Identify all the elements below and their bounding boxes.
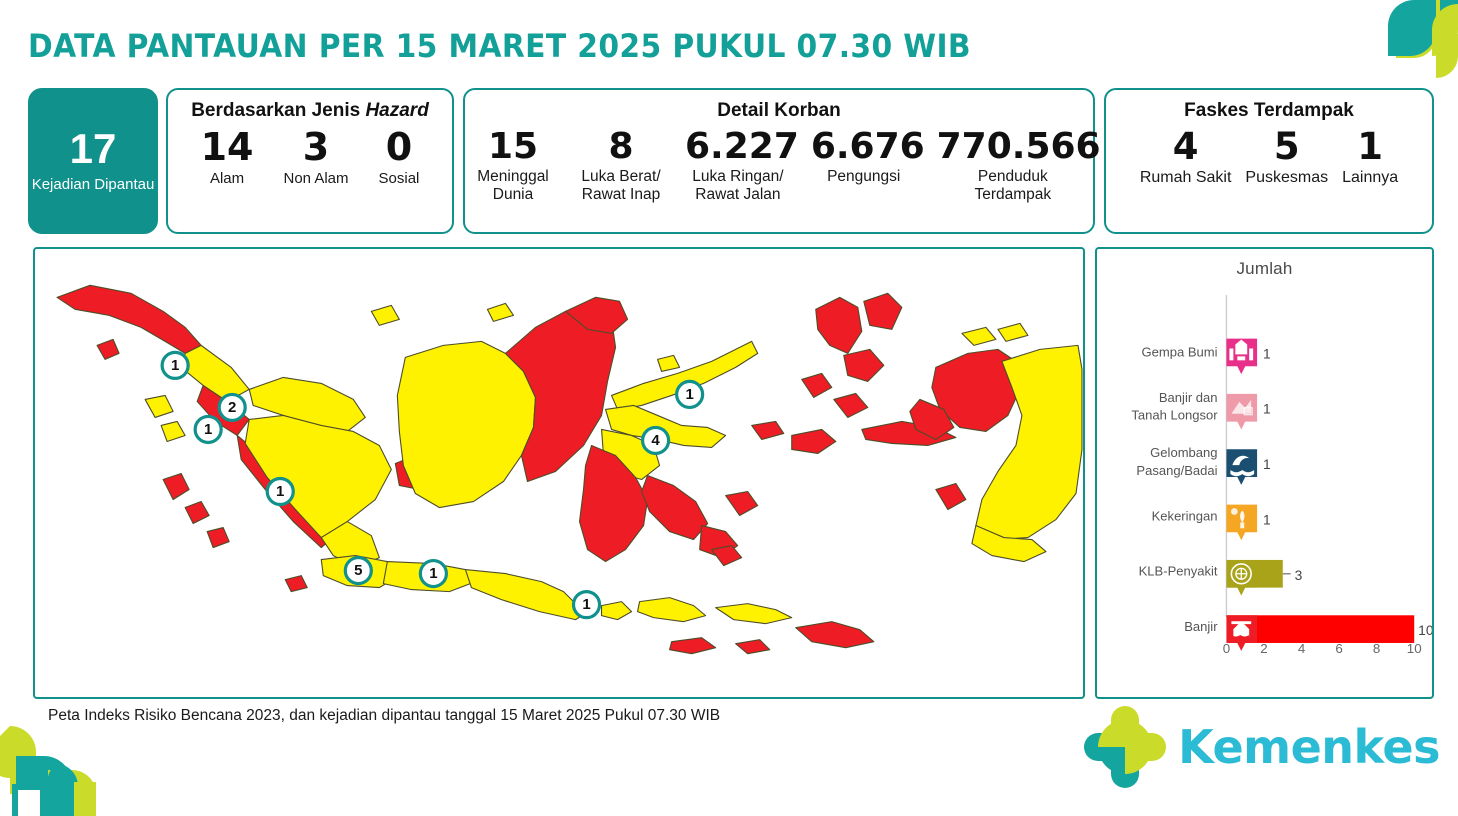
hazard-alam-value: 14	[201, 128, 254, 168]
drought-sun-icon	[1226, 505, 1257, 541]
victim-card-title: Detail Korban	[465, 100, 1093, 122]
hazard-alam-label: Alam	[201, 170, 254, 187]
wave-icon	[1226, 449, 1257, 485]
chart-row: Gempa Bumi 1	[1142, 339, 1272, 375]
map-marker[interactable]: 2	[219, 394, 245, 420]
chart-category-label: Gempa Bumi	[1142, 344, 1218, 359]
faskes-puskesmas-label: Puskesmas	[1245, 169, 1328, 187]
total-events-label: Kejadian Dipantau	[32, 176, 155, 194]
x-tick-label: 0	[1223, 641, 1230, 656]
chart-category-label-line1: Gelombang	[1150, 445, 1217, 460]
victim-stat-luka-berat: 8 Luka Berat/ Rawat Inap	[573, 128, 669, 203]
dashboard-page: DATA PANTAUAN PER 15 MARET 2025 PUKUL 07…	[0, 0, 1458, 816]
map-marker-label: 1	[171, 357, 179, 374]
map-marker[interactable]: 1	[267, 479, 293, 505]
hazard-type-card: Berdasarkan Jenis Hazard 14 Alam 3 Non A…	[166, 88, 454, 234]
faskes-puskesmas-value: 5	[1245, 128, 1328, 167]
map-marker[interactable]: 1	[574, 592, 600, 618]
chart-bar-value: 3	[1295, 567, 1303, 583]
x-tick-label: 6	[1335, 641, 1342, 656]
faskes-rumah-sakit-value: 4	[1140, 128, 1232, 167]
corner-decoration-top-right	[1336, 0, 1458, 96]
map-marker[interactable]: 1	[677, 381, 703, 407]
hazard-stat-row: 14 Alam 3 Non Alam 0 Sosial	[168, 128, 452, 187]
faskes-lainnya-label: Lainnya	[1342, 169, 1398, 187]
chart-bar-value: 1	[1263, 511, 1271, 527]
victim-luka-berat-label: Luka Berat/ Rawat Inap	[577, 168, 665, 204]
hazard-title-plain: Berdasarkan Jenis	[191, 100, 365, 121]
hazard-stat-alam: 14 Alam	[197, 128, 258, 187]
flood-house-icon	[1226, 615, 1257, 651]
hazard-non-alam-value: 3	[283, 128, 348, 168]
total-events-card: 17 Kejadian Dipantau	[28, 88, 158, 234]
victim-detail-card: Detail Korban 15 Meninggal Dunia 8 Luka …	[463, 88, 1095, 234]
map-marker[interactable]: 1	[420, 561, 446, 587]
chart-row: Gelombang Pasang/Badai 1	[1136, 445, 1271, 485]
victim-penduduk-label: Penduduk Terdampak	[937, 168, 1089, 204]
hazard-stat-sosial: 0 Sosial	[375, 128, 424, 187]
victim-pengungsi-value: 6.676	[811, 128, 917, 166]
faskes-rumah-sakit-label: Rumah Sakit	[1140, 169, 1232, 187]
hazard-title-italic: Hazard	[365, 100, 428, 121]
chart-bar-value: 10	[1418, 622, 1432, 638]
map-marker-label: 1	[429, 565, 437, 582]
kemenkes-logo-text: Kemenkes	[1178, 720, 1440, 774]
map-marker-label: 5	[354, 562, 362, 579]
chart-body: Gempa Bumi 1 Banjir dan Tanah Longsor	[1097, 279, 1432, 665]
map-marker[interactable]: 5	[345, 558, 371, 584]
map-marker[interactable]: 4	[643, 427, 669, 453]
chart-category-label-line2: Pasang/Badai	[1136, 463, 1217, 478]
kemenkes-logo-mark	[1082, 704, 1168, 790]
chart-bar-value: 1	[1263, 456, 1271, 472]
disease-outbreak-icon	[1226, 560, 1257, 596]
x-tick-label: 10	[1407, 641, 1422, 656]
total-events-value: 17	[70, 128, 117, 170]
chart-category-label: KLB-Penyakit	[1139, 564, 1218, 579]
victim-luka-berat-value: 8	[577, 128, 665, 166]
victim-stat-penduduk: 770.566 Penduduk Terdampak	[933, 128, 1093, 203]
chart-category-label: Banjir	[1184, 619, 1218, 634]
chart-bar-value: 1	[1263, 345, 1271, 361]
map-marker-label: 1	[276, 483, 284, 500]
map-marker[interactable]: 1	[195, 416, 221, 442]
victim-luka-ringan-value: 6.227	[685, 128, 791, 166]
corner-decoration-bottom-left	[0, 720, 135, 816]
faskes-stat-rumah-sakit: 4 Rumah Sakit	[1136, 128, 1236, 187]
kemenkes-logo: Kemenkes	[1082, 704, 1440, 790]
victim-stat-luka-ringan: 6.227 Luka Ringan/ Rawat Jalan	[681, 128, 795, 203]
hazard-sosial-value: 0	[379, 128, 420, 168]
chart-title: Jumlah	[1097, 259, 1432, 279]
faskes-stat-lainnya: 1 Lainnya	[1338, 128, 1402, 187]
map-marker[interactable]: 1	[162, 352, 188, 378]
chart-x-axis: 0 2 4 6 8 10	[1223, 641, 1422, 656]
chart-row: KLB-Penyakit 3	[1139, 560, 1303, 596]
victim-luka-ringan-label: Luka Ringan/ Rawat Jalan	[685, 168, 791, 204]
x-tick-label: 4	[1298, 641, 1306, 656]
hazard-sosial-label: Sosial	[379, 170, 420, 187]
victim-meninggal-value: 15	[469, 128, 557, 166]
faskes-lainnya-value: 1	[1342, 128, 1398, 167]
chart-row: Banjir dan Tanah Longsor 1	[1131, 390, 1271, 430]
x-tick-label: 8	[1373, 641, 1380, 656]
chart-category-label: Kekeringan	[1152, 508, 1218, 523]
victim-meninggal-label: Meninggal Dunia	[469, 168, 557, 204]
indonesia-risk-map-panel[interactable]: 1 2 1 1 5	[33, 247, 1085, 699]
faskes-stat-row: 4 Rumah Sakit 5 Puskesmas 1 Lainnya	[1106, 128, 1432, 187]
hazard-stat-non-alam: 3 Non Alam	[279, 128, 352, 187]
victim-stat-meninggal: 15 Meninggal Dunia	[465, 128, 561, 203]
faskes-stat-puskesmas: 5 Puskesmas	[1241, 128, 1332, 187]
faskes-card-title: Faskes Terdampak	[1106, 100, 1432, 122]
chart-bar-value: 1	[1263, 401, 1271, 417]
chart-category-label-line2: Tanah Longsor	[1131, 408, 1218, 423]
map-landmasses	[57, 285, 1082, 653]
earthquake-building-icon	[1226, 339, 1257, 375]
chart-category-label-line1: Banjir dan	[1159, 390, 1218, 405]
victim-stat-pengungsi: 6.676 Pengungsi	[807, 128, 921, 186]
hazard-card-title: Berdasarkan Jenis Hazard	[168, 100, 452, 122]
affected-health-facility-card: Faskes Terdampak 4 Rumah Sakit 5 Puskesm…	[1104, 88, 1434, 234]
page-title: DATA PANTAUAN PER 15 MARET 2025 PUKUL 07…	[28, 27, 971, 65]
chart-row: Banjir 10	[1184, 615, 1432, 651]
map-marker-label: 1	[204, 421, 212, 438]
map-marker-label: 1	[685, 386, 693, 403]
chart-row: Kekeringan 1	[1152, 505, 1271, 541]
victim-penduduk-value: 770.566	[937, 128, 1089, 166]
landslide-icon	[1226, 394, 1257, 430]
x-tick-label: 2	[1260, 641, 1267, 656]
horizontal-bar-chart: Gempa Bumi 1 Banjir dan Tanah Longsor	[1097, 279, 1432, 665]
victim-pengungsi-label: Pengungsi	[811, 168, 917, 186]
indonesia-map[interactable]: 1 2 1 1 5	[35, 249, 1083, 697]
hazard-non-alam-label: Non Alam	[283, 170, 348, 187]
footer-source-note: Peta Indeks Risiko Bencana 2023, dan kej…	[48, 707, 720, 725]
victim-stat-row: 15 Meninggal Dunia 8 Luka Berat/ Rawat I…	[465, 128, 1093, 203]
map-marker-label: 1	[582, 596, 590, 613]
hazard-count-chart-panel: Jumlah Gempa Bumi 1	[1095, 247, 1434, 699]
map-marker-label: 2	[228, 399, 236, 416]
map-marker-label: 4	[651, 432, 660, 449]
